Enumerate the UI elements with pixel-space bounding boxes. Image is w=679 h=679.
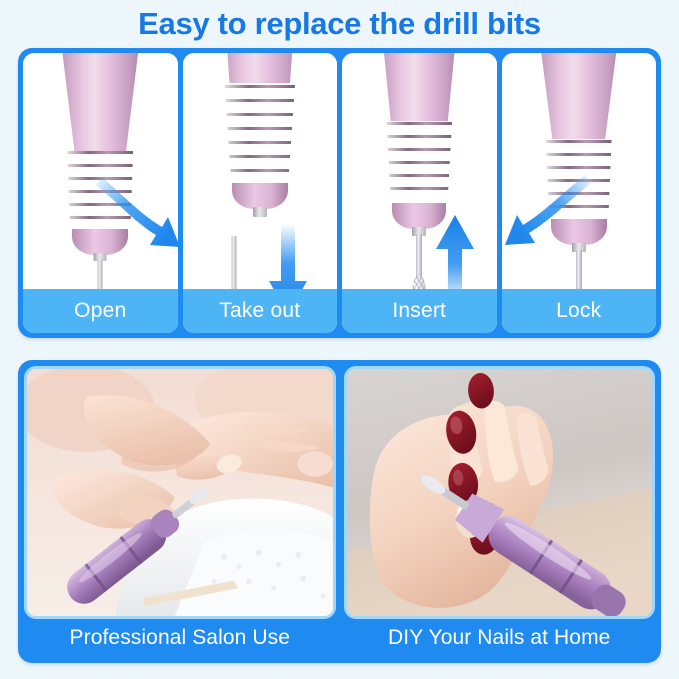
step-panel-insert[interactable]: Insert (342, 53, 497, 333)
step-illustration-open (23, 53, 178, 289)
photo-caption-salon: Professional Salon Use (24, 619, 336, 657)
step-panel-lock[interactable]: Lock (502, 53, 657, 333)
rotate-lock-arrow-icon (502, 173, 593, 263)
step-caption-lock: Lock (502, 289, 657, 333)
page-title: Easy to replace the drill bits (0, 4, 679, 44)
pull-down-arrow-icon (264, 223, 312, 289)
step-caption-open: Open (23, 289, 178, 333)
step-caption-insert: Insert (342, 289, 497, 333)
drill-bit-burr (412, 275, 427, 289)
photo-caption-diy: DIY Your Nails at Home (344, 619, 656, 657)
push-up-arrow-icon (431, 213, 479, 289)
photo-card-salon[interactable]: Professional Salon Use (24, 366, 336, 657)
drill-bit-shaft (231, 236, 236, 289)
step-illustration-lock (502, 53, 657, 289)
step-illustration-take-out (183, 53, 338, 289)
step-panel-open[interactable]: Open (23, 53, 178, 333)
drill-bit-burr (571, 288, 586, 289)
handpiece-illustration (183, 53, 338, 231)
photo-card-diy[interactable]: DIY Your Nails at Home (344, 366, 656, 657)
step-panel-take-out[interactable]: Take out (183, 53, 338, 333)
rotate-open-arrow-icon (94, 173, 177, 263)
step-illustration-insert (342, 53, 497, 289)
photos-container: Professional Salon Use (18, 360, 661, 663)
photo-diy-home (344, 366, 656, 619)
steps-container: Open (18, 48, 661, 338)
photo-salon-use (24, 366, 336, 619)
step-caption-take-out: Take out (183, 289, 338, 333)
